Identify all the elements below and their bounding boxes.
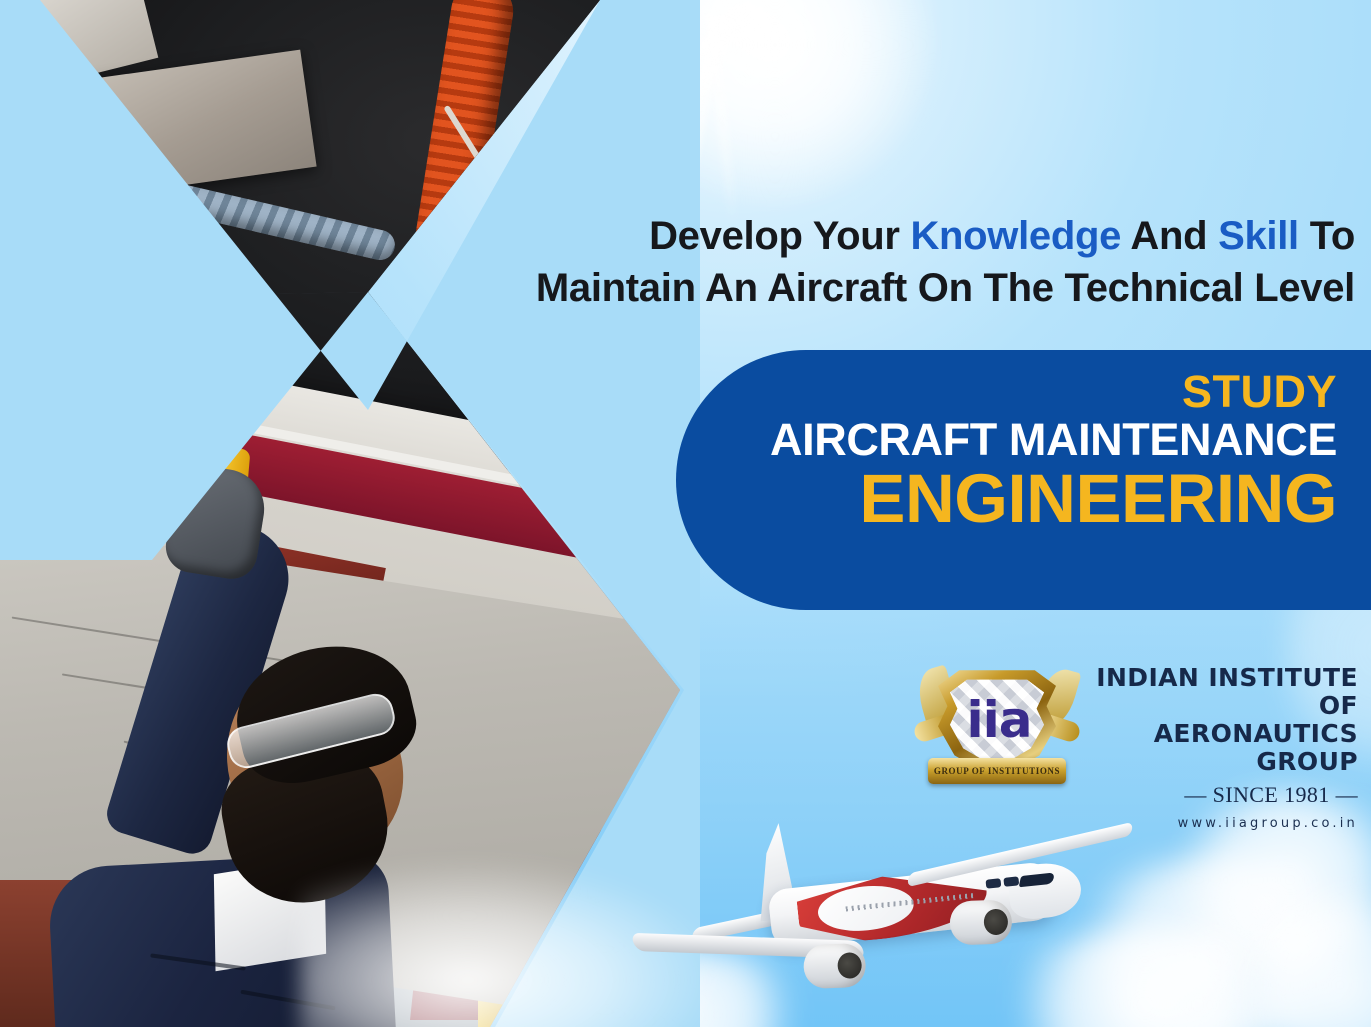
institute-logo[interactable]: iia GROUP OF INSTITUTIONS INDIAN INSTITU… (918, 662, 1358, 802)
banner-subject-label: AIRCRAFT MAINTENANCE (676, 416, 1337, 465)
headline-line-2: Maintain An Aircraft On The Technical Le… (430, 262, 1355, 314)
institute-name-line-2: AERONAUTICS GROUP (1088, 720, 1358, 776)
headline-text-c: To (1299, 214, 1355, 258)
crest-ribbon-label: GROUP OF INSTITUTIONS (934, 766, 1060, 776)
headline-line-1: Develop Your Knowledge And Skill To (430, 210, 1355, 262)
page-title: Develop Your Knowledge And Skill To Main… (430, 210, 1355, 314)
established-year: — SINCE 1981 — (1088, 782, 1358, 808)
headline-text-a: Develop Your (649, 214, 910, 258)
headline-text-b: And (1121, 214, 1218, 258)
technician-photo (0, 0, 700, 1027)
engine-intake (837, 952, 862, 979)
plane-engine (949, 899, 1012, 945)
plane-window (1003, 876, 1019, 887)
engine-intake (983, 909, 1008, 936)
headline-accent-skill: Skill (1218, 214, 1299, 258)
plane-engine (803, 943, 866, 989)
plane-window (985, 878, 1001, 889)
banner-study-label: STUDY (676, 368, 1337, 416)
program-banner: STUDY AIRCRAFT MAINTENANCE ENGINEERING (676, 350, 1371, 610)
crest-icon: iia GROUP OF INSTITUTIONS (918, 662, 1076, 802)
promotional-poster: Develop Your Knowledge And Skill To Main… (0, 0, 1371, 1027)
banner-program-label: ENGINEERING (676, 464, 1337, 534)
headline-accent-knowledge: Knowledge (910, 214, 1121, 258)
institute-name-block: INDIAN INSTITUTE OF AERONAUTICS GROUP — … (1088, 664, 1358, 831)
crest-monogram: iia (958, 692, 1040, 750)
institute-name-line-1: INDIAN INSTITUTE OF (1088, 664, 1358, 720)
crest-ribbon: GROUP OF INSTITUTIONS (928, 758, 1066, 784)
